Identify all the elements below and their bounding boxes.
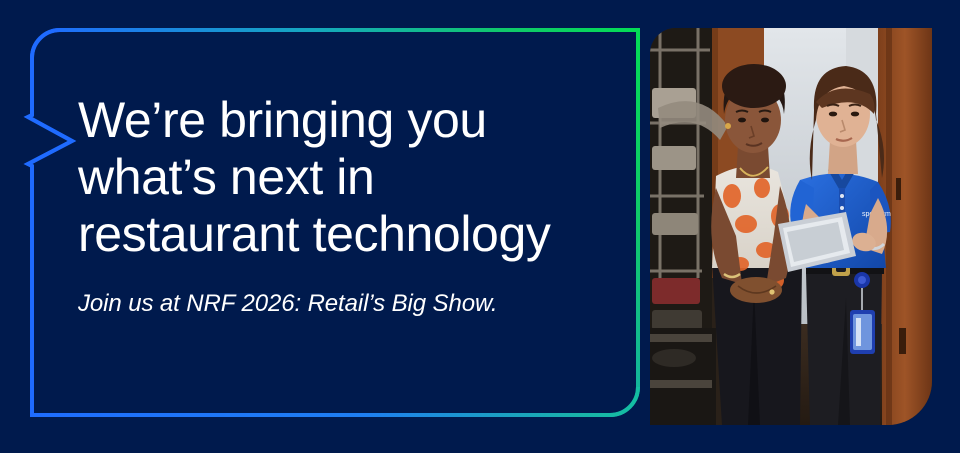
copy-block: We’re bringing you what’s next in restau… bbox=[78, 92, 638, 319]
subtitle: Join us at NRF 2026: Retail’s Big Show. bbox=[78, 289, 638, 319]
promo-banner: We’re bringing you what’s next in restau… bbox=[0, 0, 960, 453]
hero-photo: spectrum bbox=[650, 28, 932, 425]
page-title: We’re bringing you what’s next in restau… bbox=[78, 92, 638, 263]
photo-scene: spectrum bbox=[650, 28, 932, 425]
bubble-bottom-stroke bbox=[32, 387, 638, 415]
bubble-tail-chevron bbox=[28, 30, 72, 415]
